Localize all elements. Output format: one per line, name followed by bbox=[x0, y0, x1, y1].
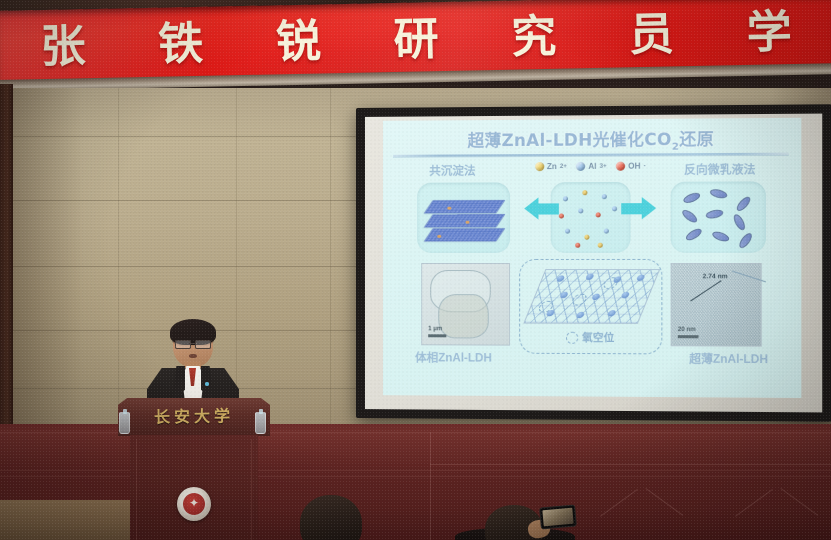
legend-charge-aluminium: 3+ bbox=[600, 163, 607, 169]
speaker-mouth bbox=[189, 354, 197, 358]
legend-label-zinc: Zn bbox=[547, 162, 557, 171]
ion-dot-hydroxide-icon bbox=[575, 243, 580, 248]
legend-item-zinc: Zn2+ bbox=[535, 162, 567, 171]
slide-title-tail: 还原 bbox=[679, 130, 714, 150]
ion-dot-aluminium-icon bbox=[611, 206, 616, 211]
nanoplate-icon bbox=[684, 226, 703, 242]
method-label-left: 共沉淀法 bbox=[429, 162, 475, 178]
lattice-atom-icon bbox=[620, 292, 630, 298]
oxygen-vacancy-label: 氧空位 bbox=[582, 330, 614, 345]
audience-head-left bbox=[300, 495, 362, 540]
podium-top-panel: 长安大学 bbox=[118, 398, 270, 436]
dimension-label: 2.74 nm bbox=[703, 273, 728, 280]
ion-dot-aluminium-icon bbox=[562, 196, 567, 201]
banner-char-5: 究 bbox=[511, 13, 558, 59]
interlayer-anion-icon bbox=[465, 221, 469, 224]
ion-dot-zinc-icon bbox=[582, 190, 587, 195]
crystal-lattice-diagram bbox=[523, 269, 660, 324]
oxygen-vacancy-legend-icon bbox=[566, 331, 578, 343]
lapel-pin-icon bbox=[205, 382, 209, 386]
ion-legend: Zn2+ Al3+ OH- bbox=[535, 162, 646, 172]
lattice-atom-icon bbox=[559, 292, 569, 298]
ion-dot-zinc-icon bbox=[584, 235, 589, 240]
interlayer-anion-icon bbox=[447, 207, 451, 210]
ion-dot-hydroxide-icon bbox=[595, 212, 600, 217]
diagram-panel-bulk-ldh bbox=[417, 182, 510, 253]
lattice-atom-icon bbox=[555, 275, 565, 281]
legend-label-aluminium: Al bbox=[588, 162, 596, 171]
dimension-leader-line bbox=[690, 280, 721, 301]
nanoplate-icon bbox=[735, 195, 753, 213]
legend-charge-zinc: 2+ bbox=[560, 163, 567, 169]
nanoplate-icon bbox=[680, 208, 699, 225]
legend-charge-hydroxide: - bbox=[644, 163, 646, 169]
ldh-sheet-icon bbox=[424, 200, 506, 214]
oxygen-vacancy-label-row: 氧空位 bbox=[520, 330, 661, 346]
lattice-atom-icon bbox=[606, 310, 616, 316]
nanoplate-icon bbox=[732, 213, 748, 232]
nanoplate-icon bbox=[682, 191, 701, 205]
nanoplate-icon bbox=[709, 188, 728, 200]
wainscot-panel-edge bbox=[430, 464, 831, 465]
hexagonal-platelet-icon bbox=[438, 294, 488, 338]
water-bottle bbox=[119, 412, 130, 434]
ldh-sheet-icon bbox=[424, 228, 506, 241]
nanoplate-icon bbox=[711, 230, 730, 244]
slide-title: 超薄ZnAl-LDH光催化CO2还原 bbox=[383, 125, 801, 154]
banner-char-2: 铁 bbox=[158, 20, 205, 66]
ion-dot-aluminium-icon bbox=[601, 194, 606, 199]
oxygen-vacancy-icon bbox=[570, 294, 588, 306]
ion-dot-hydroxide-icon bbox=[616, 162, 625, 171]
presentation-slide: 超薄ZnAl-LDH光催化CO2还原 共沉淀法 反向微乳液法 Zn2+ Al3+ bbox=[383, 118, 801, 398]
legend-label-hydroxide: OH bbox=[628, 162, 640, 171]
scale-bar-label-left: 1 μm bbox=[428, 326, 442, 332]
slide-title-main: 超薄ZnAl-LDH光催化CO bbox=[467, 130, 671, 150]
smartphone-recording bbox=[539, 504, 577, 529]
method-label-right: 反向微乳液法 bbox=[684, 161, 755, 178]
wall-shadow-left bbox=[13, 88, 83, 428]
ion-dot-zinc-icon bbox=[597, 243, 602, 248]
wainscot-chevron bbox=[645, 488, 683, 516]
lecture-hall-photo: 张 铁 锐 研 究 员 学 超薄ZnAl-LDH光催化CO2还原 bbox=[0, 0, 831, 540]
nanoplate-icon bbox=[705, 208, 724, 220]
scale-bar bbox=[678, 335, 699, 338]
wainscot-chevron bbox=[600, 489, 638, 517]
lattice-atom-icon bbox=[635, 275, 645, 281]
emblem-mark: ✦ bbox=[189, 497, 199, 509]
projection-screen-surface: 超薄ZnAl-LDH光催化CO2还原 共沉淀法 反向微乳液法 Zn2+ Al3+ bbox=[365, 114, 822, 413]
ion-dot-aluminium-icon bbox=[576, 162, 585, 171]
oxygen-vacancy-card: 氧空位 bbox=[519, 259, 662, 354]
podium: 长安大学 ✦ bbox=[118, 398, 270, 540]
ion-dot-aluminium-icon bbox=[603, 229, 608, 234]
lattice-atom-icon bbox=[575, 312, 585, 318]
scale-bar-label-right: 20 nm bbox=[678, 327, 696, 333]
ion-dot-aluminium-icon bbox=[564, 229, 569, 234]
ion-dot-zinc-icon bbox=[535, 162, 544, 171]
caption-ultrathin-ldh: 超薄ZnAl-LDH bbox=[689, 350, 768, 367]
banner-char-6: 员 bbox=[629, 11, 676, 57]
projection-screen-frame: 超薄ZnAl-LDH光催化CO2还原 共沉淀法 反向微乳液法 Zn2+ Al3+ bbox=[356, 104, 831, 421]
diagram-panel-ultrathin-ldh bbox=[671, 181, 766, 252]
caption-bulk-ldh: 体相ZnAl-LDH bbox=[415, 349, 492, 365]
diagram-panel-ion-solution bbox=[550, 182, 630, 253]
banner-char-3: 锐 bbox=[275, 18, 322, 64]
interlayer-anion-icon bbox=[437, 235, 441, 238]
legend-item-aluminium: Al3+ bbox=[576, 162, 607, 171]
lattice-atom-icon bbox=[584, 274, 594, 280]
wall-seam bbox=[330, 88, 331, 428]
podium-engraved-text: 长安大学 bbox=[118, 402, 270, 429]
tem-image-bulk: 1 μm bbox=[421, 263, 510, 346]
wainscot-panel-edge bbox=[430, 432, 431, 540]
wall-pillar-left bbox=[0, 84, 13, 434]
ldh-sheet-icon bbox=[424, 214, 506, 227]
glasses-icon bbox=[175, 340, 211, 347]
banner-char-1: 张 bbox=[40, 23, 87, 69]
oxygen-vacancy-icon bbox=[601, 277, 619, 289]
wall-seam bbox=[118, 88, 119, 428]
lattice-atom-icon bbox=[591, 294, 601, 300]
scale-bar bbox=[428, 334, 446, 337]
podium-body: ✦ bbox=[130, 435, 258, 540]
banner-char-7: 学 bbox=[746, 9, 793, 55]
legend-item-hydroxide: OH- bbox=[616, 162, 646, 171]
wainscot-chevron bbox=[735, 489, 773, 517]
phone-screen bbox=[542, 508, 573, 527]
ion-dot-aluminium-icon bbox=[578, 208, 583, 213]
banner-char-4: 研 bbox=[393, 16, 440, 62]
university-emblem: ✦ bbox=[177, 487, 211, 521]
water-bottle bbox=[255, 412, 266, 434]
nanoplate-icon bbox=[737, 231, 754, 250]
wainscot-chevron bbox=[780, 488, 818, 516]
ion-dot-hydroxide-icon bbox=[558, 213, 563, 218]
